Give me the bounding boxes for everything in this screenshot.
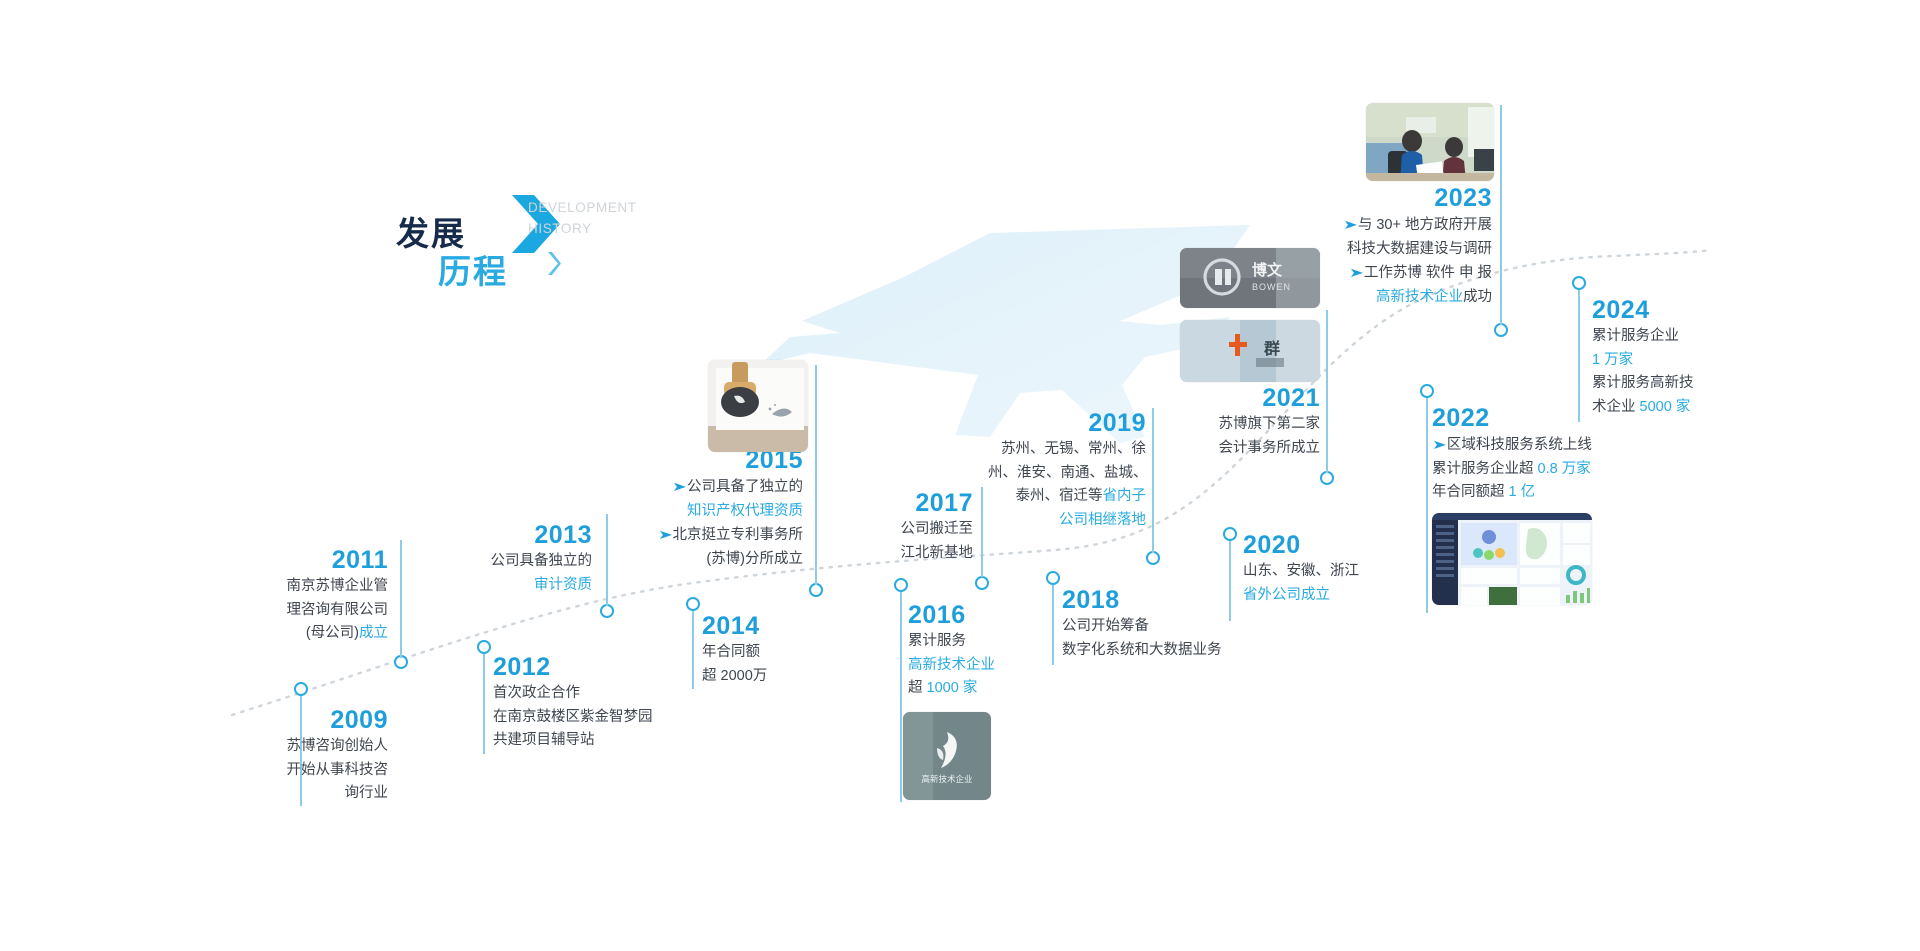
title-en-line1: DEVELOPMENT	[528, 197, 637, 218]
text-segment: 北京挺立专利事务所	[673, 527, 804, 543]
timeline-text-line: (苏博)分所成立	[620, 548, 803, 572]
text-segment: 共建项目辅导站	[493, 732, 595, 748]
timeline-text-line: (母公司)成立	[212, 622, 388, 646]
text-segment: 州、淮安、南通、盐城、	[988, 465, 1148, 481]
timeline-text-line: 共建项目辅导站	[493, 729, 743, 753]
timeline-text-line: 累计服务	[908, 630, 1068, 654]
text-segment: 苏博咨询创始人	[287, 738, 389, 754]
text-segment: 超	[908, 680, 927, 696]
text-segment: 苏博旗下第二家	[1219, 416, 1321, 432]
timeline-entry-2024: 2024累计服务企业1 万家累计服务高新技术企业 5000 家	[1592, 295, 1767, 419]
text-segment: 科技大数据建设与调研	[1347, 241, 1492, 257]
timeline-text-line: 询行业	[228, 782, 388, 806]
timeline-text-line: ➤与 30+ 地方政府开展	[1300, 213, 1492, 238]
arrow-bullet-icon: ➤	[1432, 433, 1447, 457]
timeline-stem-2022	[1426, 398, 1428, 613]
high-tech-enterprise-plaque: 高新技术企业	[903, 712, 991, 800]
timeline-text-line: 累计服务高新技	[1592, 372, 1767, 396]
timeline-entry-2015: 2015➤公司具备了独立的知识产权代理资质➤北京挺立专利事务所(苏博)分所成立	[620, 445, 803, 571]
text-segment: 询行业	[345, 785, 389, 801]
timeline-stem-2021	[1326, 310, 1328, 473]
text-segment: 1000 家	[927, 680, 978, 696]
text-segment: 高新技术企业	[1376, 289, 1463, 305]
svg-text:博文: 博文	[1252, 261, 1283, 279]
chevron-right-small-icon	[546, 251, 563, 276]
arrow-bullet-icon: ➤	[672, 475, 687, 499]
timeline-node-2022[interactable]	[1420, 384, 1434, 398]
text-segment: 5000 家	[1640, 399, 1691, 415]
text-segment: 1 万家	[1592, 352, 1633, 368]
timeline-node-2017[interactable]	[975, 576, 989, 590]
timeline-text-line: 数字化系统和大数据业务	[1062, 639, 1282, 663]
timeline-text-line: 公司搬迁至	[845, 518, 973, 542]
timeline-stem-2012	[483, 654, 485, 754]
timeline-text-line: 开始从事科技咨	[228, 759, 388, 783]
timeline-year-2013: 2013	[440, 520, 592, 550]
timeline-year-2020: 2020	[1243, 530, 1415, 560]
timeline-stem-2023	[1500, 105, 1502, 325]
timeline-text-line: ➤区域科技服务系统上线	[1432, 433, 1647, 458]
text-segment: 区域科技服务系统上线	[1447, 437, 1592, 453]
timeline-stem-2015	[815, 365, 817, 585]
timeline-text-line: 泰州、宿迁等省内子	[988, 485, 1146, 509]
arrow-bullet-icon: ➤	[1349, 261, 1364, 285]
title-en-line2: HISTORY	[528, 218, 637, 239]
timeline-entry-2011: 2011南京苏博企业管理咨询有限公司(母公司)成立	[212, 545, 388, 646]
timeline-text-line: 年合同额	[702, 641, 862, 665]
timeline-text-line: ➤公司具备了独立的	[620, 475, 803, 500]
timeline-stem-2011	[400, 540, 402, 658]
timeline-year-2021: 2021	[1178, 383, 1320, 413]
timeline-text-line: 审计资质	[440, 574, 592, 598]
timeline-year-2009: 2009	[228, 705, 388, 735]
timeline-text-line: 超 1000 家	[908, 677, 1068, 701]
timeline-text-line: 科技大数据建设与调研	[1300, 238, 1492, 262]
stamp-photo	[708, 360, 808, 452]
text-segment: 南京苏博企业管	[287, 578, 389, 594]
title-en: DEVELOPMENT HISTORY	[528, 197, 637, 239]
text-segment: 审计资质	[534, 577, 592, 593]
timeline-node-2020[interactable]	[1223, 527, 1237, 541]
timeline-entry-2019: 2019苏州、无锡、常州、徐州、淮安、南通、盐城、泰州、宿迁等省内子公司相继落地	[988, 408, 1146, 532]
arrow-bullet-icon: ➤	[658, 523, 673, 547]
timeline-text-line: 会计事务所成立	[1178, 437, 1320, 461]
timeline-entry-2009: 2009苏博咨询创始人开始从事科技咨询行业	[228, 705, 388, 806]
text-segment: 年合同额	[702, 644, 760, 660]
title-cn-line2: 历程	[438, 245, 508, 293]
text-segment: 山东、安徽、浙江	[1243, 563, 1359, 579]
timeline-node-2015[interactable]	[809, 583, 823, 597]
timeline-text-line: 理咨询有限公司	[212, 599, 388, 623]
timeline-node-2019[interactable]	[1146, 551, 1160, 565]
timeline-node-2023[interactable]	[1494, 323, 1508, 337]
svg-text:BOWEN: BOWEN	[1252, 282, 1291, 292]
arrow-bullet-icon: ➤	[1343, 213, 1358, 237]
timeline-entry-2020: 2020山东、安徽、浙江省外公司成立	[1243, 530, 1415, 607]
timeline-text-line: ➤北京挺立专利事务所	[620, 523, 803, 548]
timeline-year-2017: 2017	[845, 488, 973, 518]
timeline-entry-2014: 2014年合同额超 2000万	[702, 611, 862, 688]
timeline-text-line: 江北新基地	[845, 542, 973, 566]
office-meeting-photo	[1366, 103, 1494, 181]
timeline-node-2024[interactable]	[1572, 276, 1586, 290]
timeline-year-2011: 2011	[212, 545, 388, 575]
timeline-year-2023: 2023	[1300, 183, 1492, 213]
timeline-text-line: 公司开始筹备	[1062, 615, 1282, 639]
text-segment: (苏博)分所成立	[706, 551, 803, 567]
timeline-text-line: 累计服务企业	[1592, 325, 1767, 349]
text-segment: 累计服务企业超	[1432, 461, 1538, 477]
timeline-text-line: 苏博咨询创始人	[228, 735, 388, 759]
text-segment: 苏州、无锡、常州、徐	[1001, 441, 1146, 457]
timeline-stem-2017	[981, 487, 983, 577]
timeline-text-line: 年合同额超 1 亿	[1432, 481, 1647, 505]
timeline-stem-2019	[1152, 408, 1154, 553]
dashboard-screenshot	[1432, 513, 1592, 605]
timeline-node-2021[interactable]	[1320, 471, 1334, 485]
timeline-text-line: 超 2000万	[702, 665, 862, 689]
timeline-stem-2016	[900, 592, 902, 802]
timeline-entry-2016: 2016累计服务高新技术企业超 1000 家	[908, 600, 1068, 701]
page-title: 发展 历程 DEVELOPMENT HISTORY	[396, 185, 656, 295]
text-segment: 知识产权代理资质	[687, 503, 803, 519]
timeline-text-line: 南京苏博企业管	[212, 575, 388, 599]
timeline-node-2012[interactable]	[477, 640, 491, 654]
timeline-stem-2013	[606, 514, 608, 606]
text-segment: 公司具备了独立的	[687, 479, 803, 495]
text-segment: 在南京鼓楼区紫金智梦园	[493, 709, 653, 725]
timeline-text-line: 知识产权代理资质	[620, 500, 803, 524]
timeline-text-line: 累计服务企业超 0.8 万家	[1432, 458, 1647, 482]
text-segment: 公司搬迁至	[901, 521, 974, 537]
text-segment: 省外公司成立	[1243, 587, 1330, 603]
svg-text:群: 群	[1264, 339, 1280, 358]
text-segment: 公司相继落地	[1059, 512, 1146, 528]
text-segment: 成功	[1463, 289, 1492, 305]
timeline-text-line: ➤工作苏博 软件 申 报	[1300, 261, 1492, 286]
timeline-text-line: 州、淮安、南通、盐城、	[988, 462, 1146, 486]
timeline-node-2016[interactable]	[894, 578, 908, 592]
timeline-text-line: 苏州、无锡、常州、徐	[988, 438, 1146, 462]
text-segment: 累计服务高新技	[1592, 375, 1694, 391]
text-segment: 0.8 万家	[1538, 461, 1591, 477]
timeline-node-2013[interactable]	[600, 604, 614, 618]
text-segment: 成立	[359, 625, 388, 641]
timeline-text-line: 苏博旗下第二家	[1178, 413, 1320, 437]
text-segment: 累计服务企业	[1592, 328, 1679, 344]
timeline-text-line: 高新技术企业	[908, 654, 1068, 678]
text-segment: 开始从事科技咨	[287, 762, 389, 778]
timeline-text-line: 公司具备独立的	[440, 550, 592, 574]
text-segment: 年合同额超	[1432, 484, 1509, 500]
timeline-text-line: 高新技术企业成功	[1300, 286, 1492, 310]
text-segment: (母公司)	[306, 625, 359, 641]
timeline-text-line: 在南京鼓楼区紫金智梦园	[493, 706, 743, 730]
text-segment: 理咨询有限公司	[287, 602, 389, 618]
timeline-node-2018[interactable]	[1046, 571, 1060, 585]
timeline-text-line: 术企业 5000 家	[1592, 396, 1767, 420]
timeline-year-2019: 2019	[988, 408, 1146, 438]
text-segment: 首次政企合作	[493, 685, 580, 701]
text-segment: 会计事务所成立	[1219, 440, 1321, 456]
text-segment: 术企业	[1592, 399, 1640, 415]
text-segment: 高新技术企业	[908, 657, 995, 673]
timeline-year-2024: 2024	[1592, 295, 1767, 325]
timeline-text-line: 山东、安徽、浙江	[1243, 560, 1415, 584]
timeline-entry-2013: 2013公司具备独立的审计资质	[440, 520, 592, 597]
timeline-year-2016: 2016	[908, 600, 1068, 630]
timeline-text-line: 省外公司成立	[1243, 584, 1415, 608]
text-segment: 工作苏博 软件 申 报	[1364, 265, 1492, 281]
timeline-node-2014[interactable]	[686, 597, 700, 611]
qunfei-logo-signage: 群	[1180, 320, 1320, 382]
text-segment: 江北新基地	[901, 545, 974, 561]
text-segment: 超 2000万	[702, 668, 767, 684]
svg-text:高新技术企业: 高新技术企业	[921, 774, 972, 785]
timeline-text-line: 公司相继落地	[988, 509, 1146, 533]
text-segment: 累计服务	[908, 633, 966, 649]
timeline-year-2014: 2014	[702, 611, 862, 641]
timeline-entry-2023: 2023➤与 30+ 地方政府开展科技大数据建设与调研➤工作苏博 软件 申 报高…	[1300, 183, 1492, 309]
text-segment: 数字化系统和大数据业务	[1062, 642, 1222, 658]
timeline-entry-2017: 2017公司搬迁至江北新基地	[845, 488, 973, 565]
timeline-node-2009[interactable]	[294, 682, 308, 696]
text-segment: 公司具备独立的	[491, 553, 593, 569]
timeline-text-line: 1 万家	[1592, 349, 1767, 373]
text-segment: 1 亿	[1509, 484, 1536, 500]
text-segment: 与 30+ 地方政府开展	[1358, 217, 1492, 233]
bowen-logo-signage: 博文 BOWEN	[1180, 248, 1320, 308]
text-segment: 泰州、宿迁等	[1016, 488, 1103, 504]
text-segment: 公司开始筹备	[1062, 618, 1149, 634]
timeline-entry-2021: 2021苏博旗下第二家会计事务所成立	[1178, 383, 1320, 460]
text-segment: 省内子	[1103, 488, 1147, 504]
